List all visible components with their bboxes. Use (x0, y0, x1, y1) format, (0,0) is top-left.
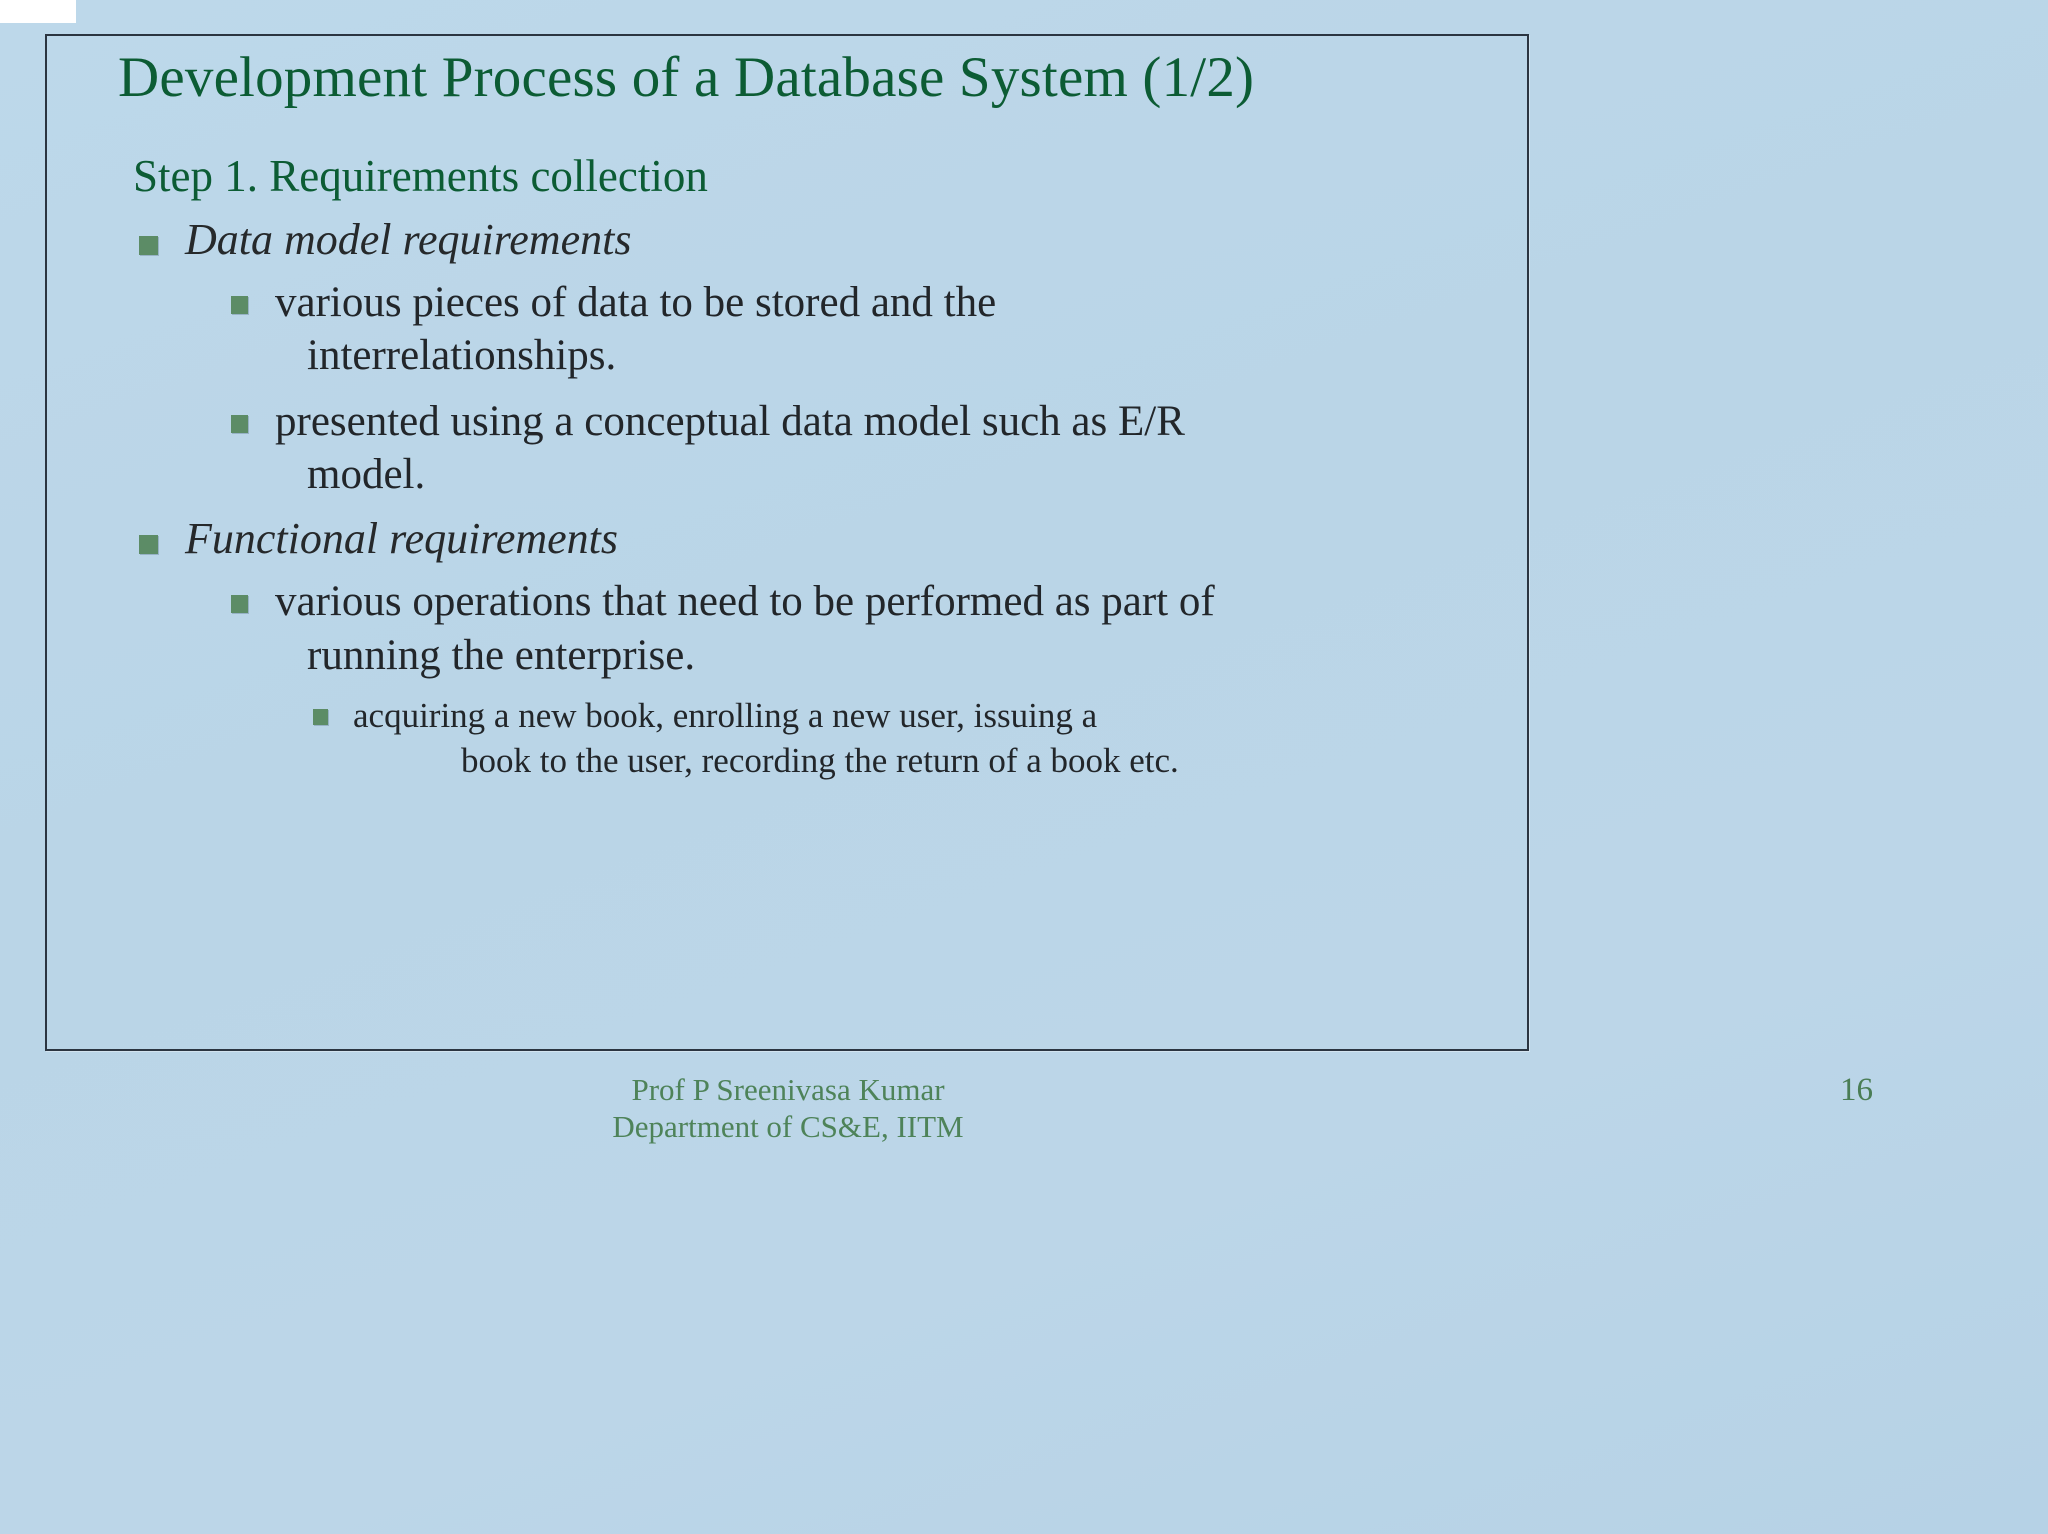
footer-department: Department of CS&E, IITM (0, 1109, 1576, 1146)
square-bullet-icon (231, 415, 248, 433)
bullet-line-1: various pieces of data to be stored and … (275, 276, 1535, 329)
square-bullet-icon (139, 535, 158, 554)
slide-body: Step 1. Requirements collection Data mod… (45, 150, 1535, 791)
bullet-acquiring-a-new-book: acquiring a new book, enrolling a new us… (307, 694, 1535, 784)
bullet-line-1: presented using a conceptual data model … (275, 395, 1535, 448)
bullet-line-2: interrelationships. (307, 329, 1535, 382)
bullet-line-1: acquiring a new book, enrolling a new us… (353, 694, 1535, 739)
square-bullet-icon (231, 296, 248, 314)
bullet-various-pieces-of-data: various pieces of data to be stored and … (223, 276, 1535, 383)
bullet-line-1: various operations that need to be perfo… (275, 575, 1535, 628)
bullet-conceptual-data-model: presented using a conceptual data model … (223, 395, 1535, 502)
bullet-line-2: running the enterprise. (307, 629, 1535, 682)
step-heading: Step 1. Requirements collection (133, 150, 1535, 202)
slide-title: Development Process of a Database System… (118, 46, 1508, 110)
square-bullet-icon (231, 595, 248, 613)
bullet-various-operations: various operations that need to be perfo… (223, 575, 1535, 682)
slide-canvas: Development Process of a Database System… (0, 0, 2048, 1534)
bullet-data-model-requirements: Data model requirements (133, 214, 1535, 266)
bullet-line-2: model. (307, 448, 1535, 501)
bullet-label: Functional requirements (185, 513, 1535, 565)
bullet-label: Data model requirements (185, 214, 1535, 266)
page-number: 16 (1840, 1072, 1873, 1109)
footer-author: Prof P Sreenivasa Kumar (0, 1072, 1576, 1109)
step-heading-text: Step 1. Requirements collection (133, 150, 1535, 202)
square-bullet-icon (139, 236, 158, 255)
bullet-functional-requirements: Functional requirements (133, 513, 1535, 565)
corner-notch (0, 0, 76, 23)
square-bullet-icon (313, 709, 328, 725)
bullet-line-2: book to the user, recording the return o… (461, 739, 1535, 784)
slide-footer: Prof P Sreenivasa Kumar Department of CS… (0, 1072, 1576, 1145)
